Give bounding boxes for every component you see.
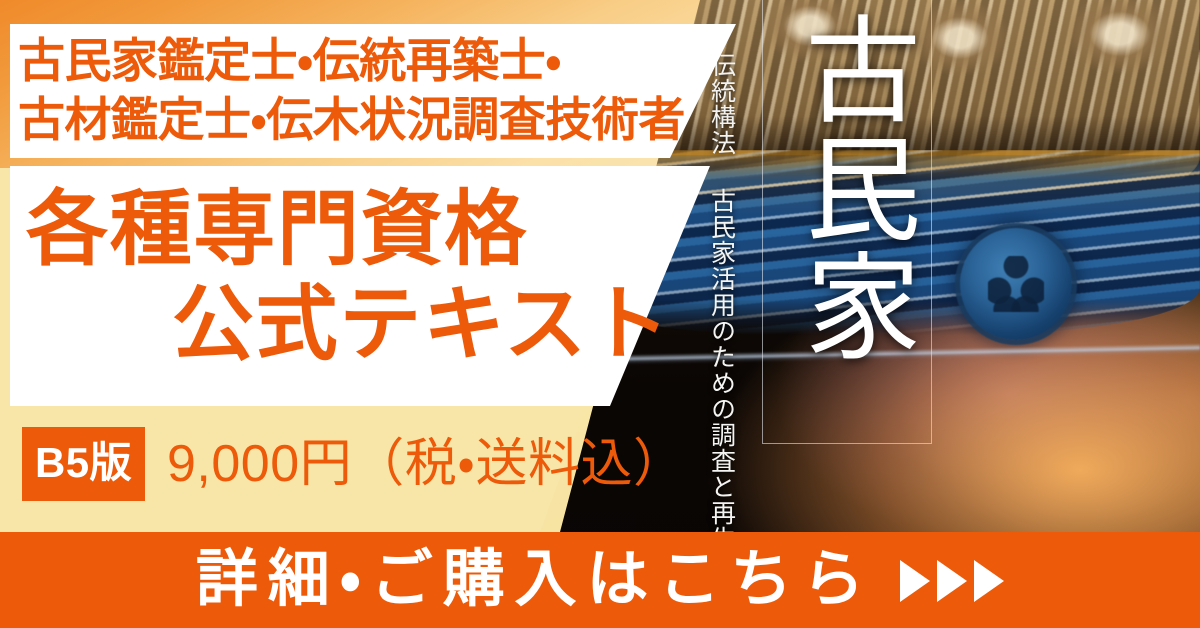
cta-arrows <box>900 560 1004 602</box>
qualification-line-2: 古材鑑定士・伝木状況調査技術者 <box>18 91 724 150</box>
format-badge: B5版 <box>22 427 145 501</box>
book-cover-subtitle-left: 古民家活用のための調査と再生の <box>706 188 736 578</box>
price-row: B5版 9,000円（税・送料込） <box>22 428 686 500</box>
promo-banner: 古民家 伝統構法 古民家活用のための調査と再生の 古民家鑑定士・伝統再築士・ 古… <box>0 0 1200 628</box>
qualifications-list: 古民家鑑定士・伝統再築士・ 古材鑑定士・伝木状況調査技術者 <box>18 32 724 150</box>
family-crest-medallion-icon <box>960 228 1072 340</box>
book-cover-title: 古民家 <box>775 10 915 365</box>
qualification-line-1: 古民家鑑定士・伝統再築士・ <box>18 32 724 91</box>
headline: 各種専門資格 公式テキスト <box>22 182 682 372</box>
headline-line-1: 各種専門資格 <box>22 182 682 277</box>
triangle-right-icon <box>974 560 1004 602</box>
triangle-right-icon <box>900 560 930 602</box>
cta-button[interactable]: 詳細・ご購入はこちら <box>0 532 1200 628</box>
headline-line-2: 公式テキスト <box>22 277 682 372</box>
price-value: 9,000円（税・送料込） <box>167 438 686 490</box>
cta-label: 詳細・ご購入はこちら <box>196 549 874 611</box>
triangle-right-icon <box>937 560 967 602</box>
